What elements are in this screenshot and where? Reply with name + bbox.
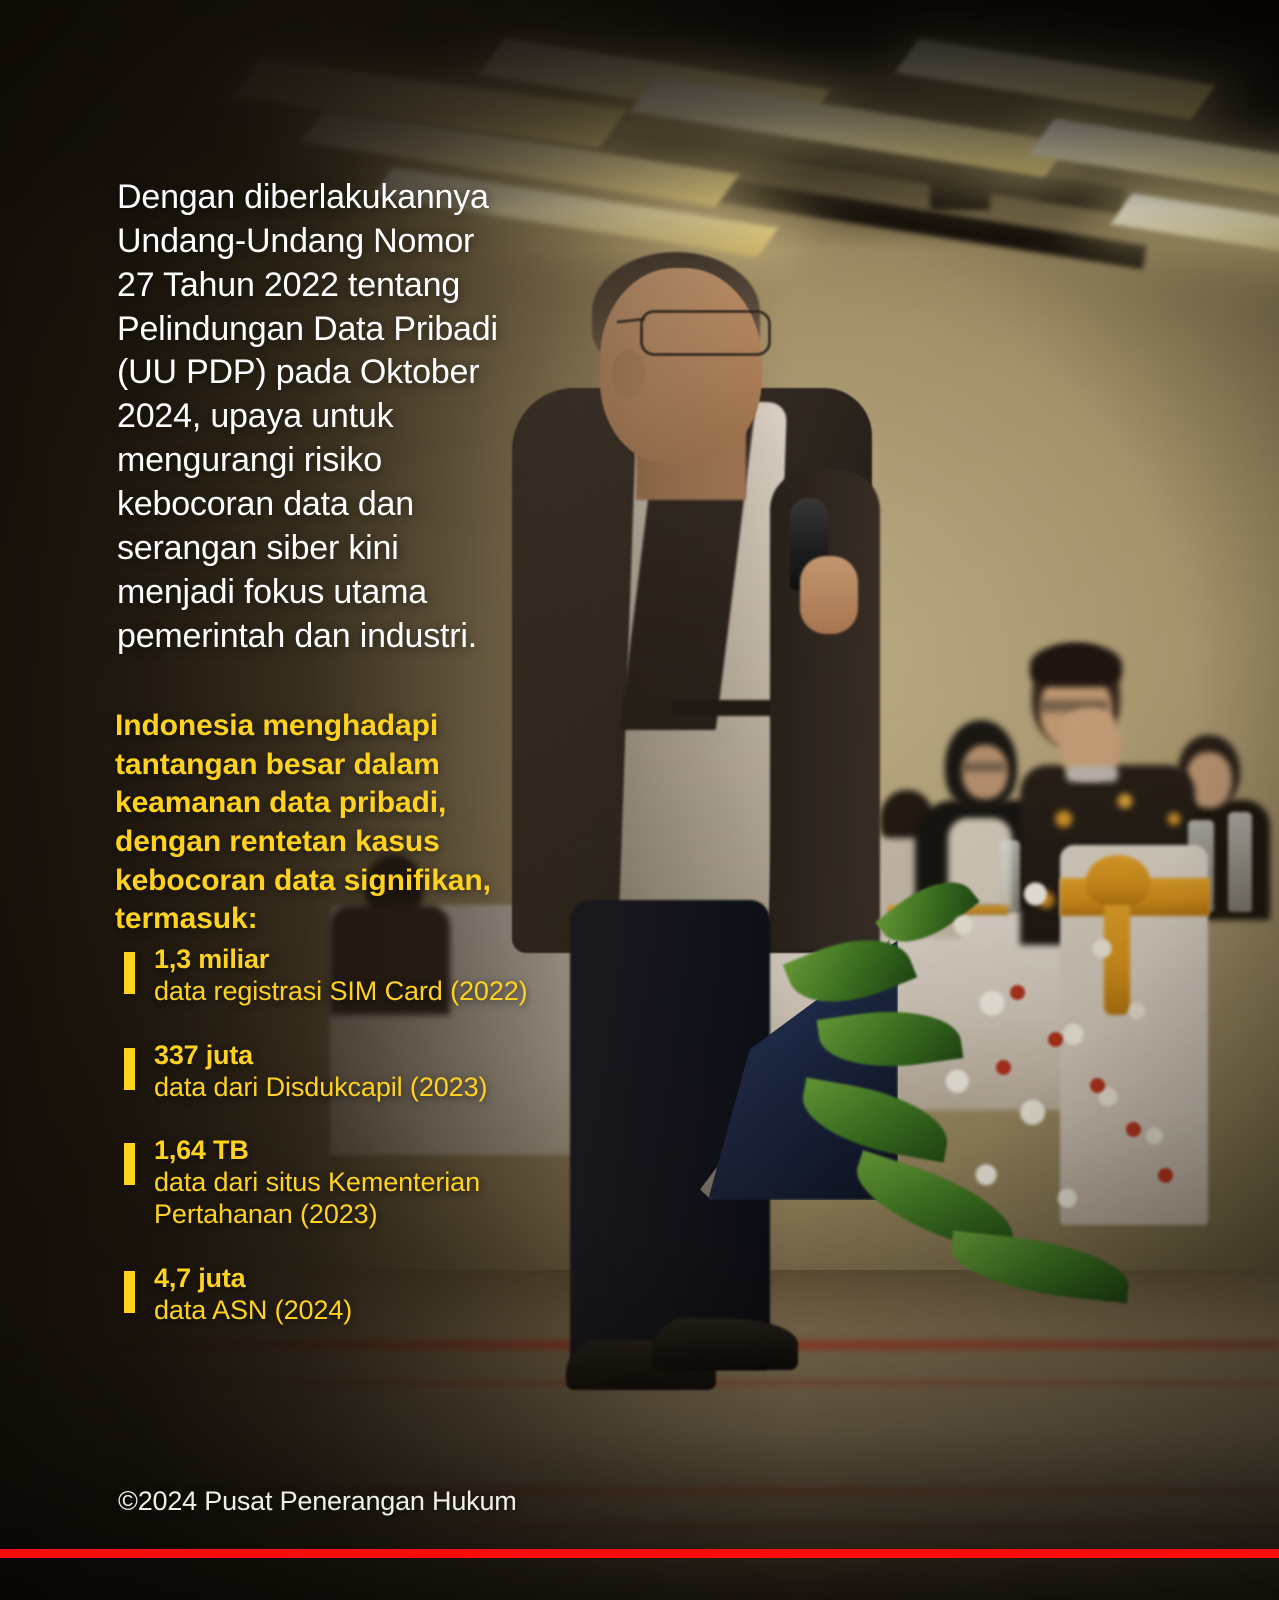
stat-value: 1,64 TB [154,1135,724,1167]
intro-paragraph: Dengan diberlakukannya Undang-Undang Nom… [117,176,547,658]
stat-item: 1,3 miliar data registrasi SIM Card (202… [124,944,724,1008]
statistics-list: 1,3 miliar data registrasi SIM Card (202… [124,944,724,1359]
stat-value: 4,7 juta [154,1263,724,1295]
stat-value: 337 juta [154,1040,724,1072]
stat-label: data registrasi SIM Card (2022) [154,976,724,1008]
stat-label: data dari Disdukcapil (2023) [154,1072,724,1104]
bottom-red-rule [0,1549,1279,1558]
stat-item: 1,64 TB data dari situs Kementerian Pert… [124,1135,724,1231]
stat-value: 1,3 miliar [154,944,724,976]
bullet-bar-icon [124,1143,135,1185]
headline-text: Indonesia menghadapi tantangan besar dal… [115,707,570,939]
stat-label: data dari situs Kementerian Pertahanan (… [154,1167,724,1231]
bullet-bar-icon [124,1048,135,1090]
stat-item: 337 juta data dari Disdukcapil (2023) [124,1040,724,1104]
stat-item: 4,7 juta data ASN (2024) [124,1263,724,1327]
stat-label: data ASN (2024) [154,1295,724,1327]
copyright-notice: ©2024 Pusat Penerangan Hukum [118,1486,517,1517]
bullet-bar-icon [124,952,135,994]
bullet-bar-icon [124,1271,135,1313]
poster-root: Dengan diberlakukannya Undang-Undang Nom… [0,0,1279,1600]
poster-content: Dengan diberlakukannya Undang-Undang Nom… [0,0,1279,1600]
